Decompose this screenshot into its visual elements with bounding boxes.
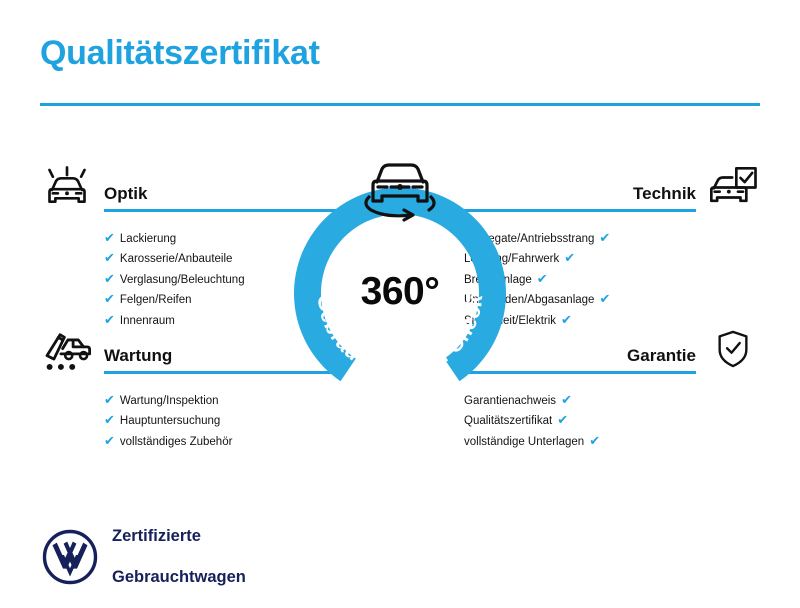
section-title: Technik <box>633 185 696 202</box>
check-icon: ✔ <box>599 232 610 245</box>
section-optik: Optik ✔Lackierung ✔Karosserie/Anbauteile… <box>36 160 336 331</box>
list-item: ✔Qualitätszertifikat <box>464 411 764 432</box>
certificate-page: Qualitätszertifikat Opt <box>0 0 800 600</box>
section-title: Optik <box>104 185 147 202</box>
list-item: ✔Felgen/Reifen <box>36 290 336 311</box>
check-icon: ✔ <box>589 435 600 448</box>
list-item: ✔Bremsanlage <box>464 269 764 290</box>
check-icon: ✔ <box>104 414 115 427</box>
check-icon: ✔ <box>104 232 115 245</box>
section-header: Technik <box>464 160 764 218</box>
list-item-label: Wartung/Inspektion <box>120 396 219 408</box>
car-checkbox-icon <box>702 160 764 214</box>
check-list: ✔Aggregate/Antriebsstrang ✔Lenkung/Fahrw… <box>464 228 764 331</box>
list-item: ✔Aggregate/Antriebsstrang <box>464 228 764 249</box>
check-list: ✔Garantienachweis ✔Qualitätszertifikat ✔… <box>464 390 764 452</box>
car-rotate-icon <box>356 154 444 222</box>
list-item: ✔Wartung/Inspektion <box>36 390 336 411</box>
vw-logo-line2: Gebrauchtwagen <box>112 567 246 588</box>
car-wrench-icon <box>36 322 98 376</box>
section-garantie: Garantie ✔Garantienachweis ✔Qualitätszer… <box>464 322 764 452</box>
list-item: ✔Lackierung <box>36 228 336 249</box>
check-list: ✔Wartung/Inspektion ✔Hauptuntersuchung ✔… <box>36 390 336 452</box>
page-title: Qualitätszertifikat <box>40 36 320 70</box>
check-icon: ✔ <box>561 394 572 407</box>
check-icon: ✔ <box>104 252 115 265</box>
list-item-label: vollständige Unterlagen <box>464 437 584 449</box>
section-header: Optik <box>36 160 336 218</box>
list-item-label: vollständiges Zubehör <box>120 437 233 449</box>
list-item: ✔Hauptuntersuchung <box>36 411 336 432</box>
section-header: Wartung <box>36 322 336 380</box>
check-list: ✔Lackierung ✔Karosserie/Anbauteile ✔Verg… <box>36 228 336 331</box>
badge-center-label: 360° <box>294 272 506 311</box>
list-item: ✔vollständige Unterlagen <box>464 431 764 452</box>
list-item: ✔Verglasung/Beleuchtung <box>36 269 336 290</box>
list-item: ✔Karosserie/Anbauteile <box>36 249 336 270</box>
check-icon: ✔ <box>537 273 548 286</box>
vw-certified-logo: Zertifizierte Gebrauchtwagen <box>42 505 246 608</box>
section-header: Garantie <box>464 322 764 380</box>
shield-check-icon <box>702 322 764 376</box>
section-title: Wartung <box>104 347 172 364</box>
360-check-badge: Gebrauchtwagen-Check 360° <box>294 188 506 400</box>
list-item-label: Felgen/Reifen <box>120 295 192 307</box>
list-item-label: Hauptuntersuchung <box>120 416 220 428</box>
section-title: Garantie <box>627 347 696 364</box>
check-icon: ✔ <box>104 394 115 407</box>
list-item-label: Karosserie/Anbauteile <box>120 254 233 266</box>
check-icon: ✔ <box>557 414 568 427</box>
list-item-label: Verglasung/Beleuchtung <box>120 275 245 287</box>
list-item: ✔Garantienachweis <box>464 390 764 411</box>
check-icon: ✔ <box>104 293 115 306</box>
car-shine-icon <box>36 160 98 214</box>
check-icon: ✔ <box>599 293 610 306</box>
section-technik: Technik ✔Aggregate/Antriebsstrang ✔Lenku… <box>464 160 764 331</box>
list-item: ✔Unterboden/Abgasanlage <box>464 290 764 311</box>
list-item-label: Lackierung <box>120 234 176 246</box>
list-item-label: Qualitätszertifikat <box>464 416 552 428</box>
vw-logo-text: Zertifizierte Gebrauchtwagen <box>112 505 246 608</box>
list-item: ✔Lenkung/Fahrwerk <box>464 249 764 270</box>
vw-roundel-icon <box>42 529 98 585</box>
check-icon: ✔ <box>104 435 115 448</box>
list-item: ✔vollständiges Zubehör <box>36 431 336 452</box>
check-icon: ✔ <box>564 252 575 265</box>
section-wartung: Wartung ✔Wartung/Inspektion ✔Hauptunters… <box>36 322 336 452</box>
title-divider <box>40 103 760 106</box>
vw-logo-line1: Zertifizierte <box>112 526 246 547</box>
check-icon: ✔ <box>104 273 115 286</box>
